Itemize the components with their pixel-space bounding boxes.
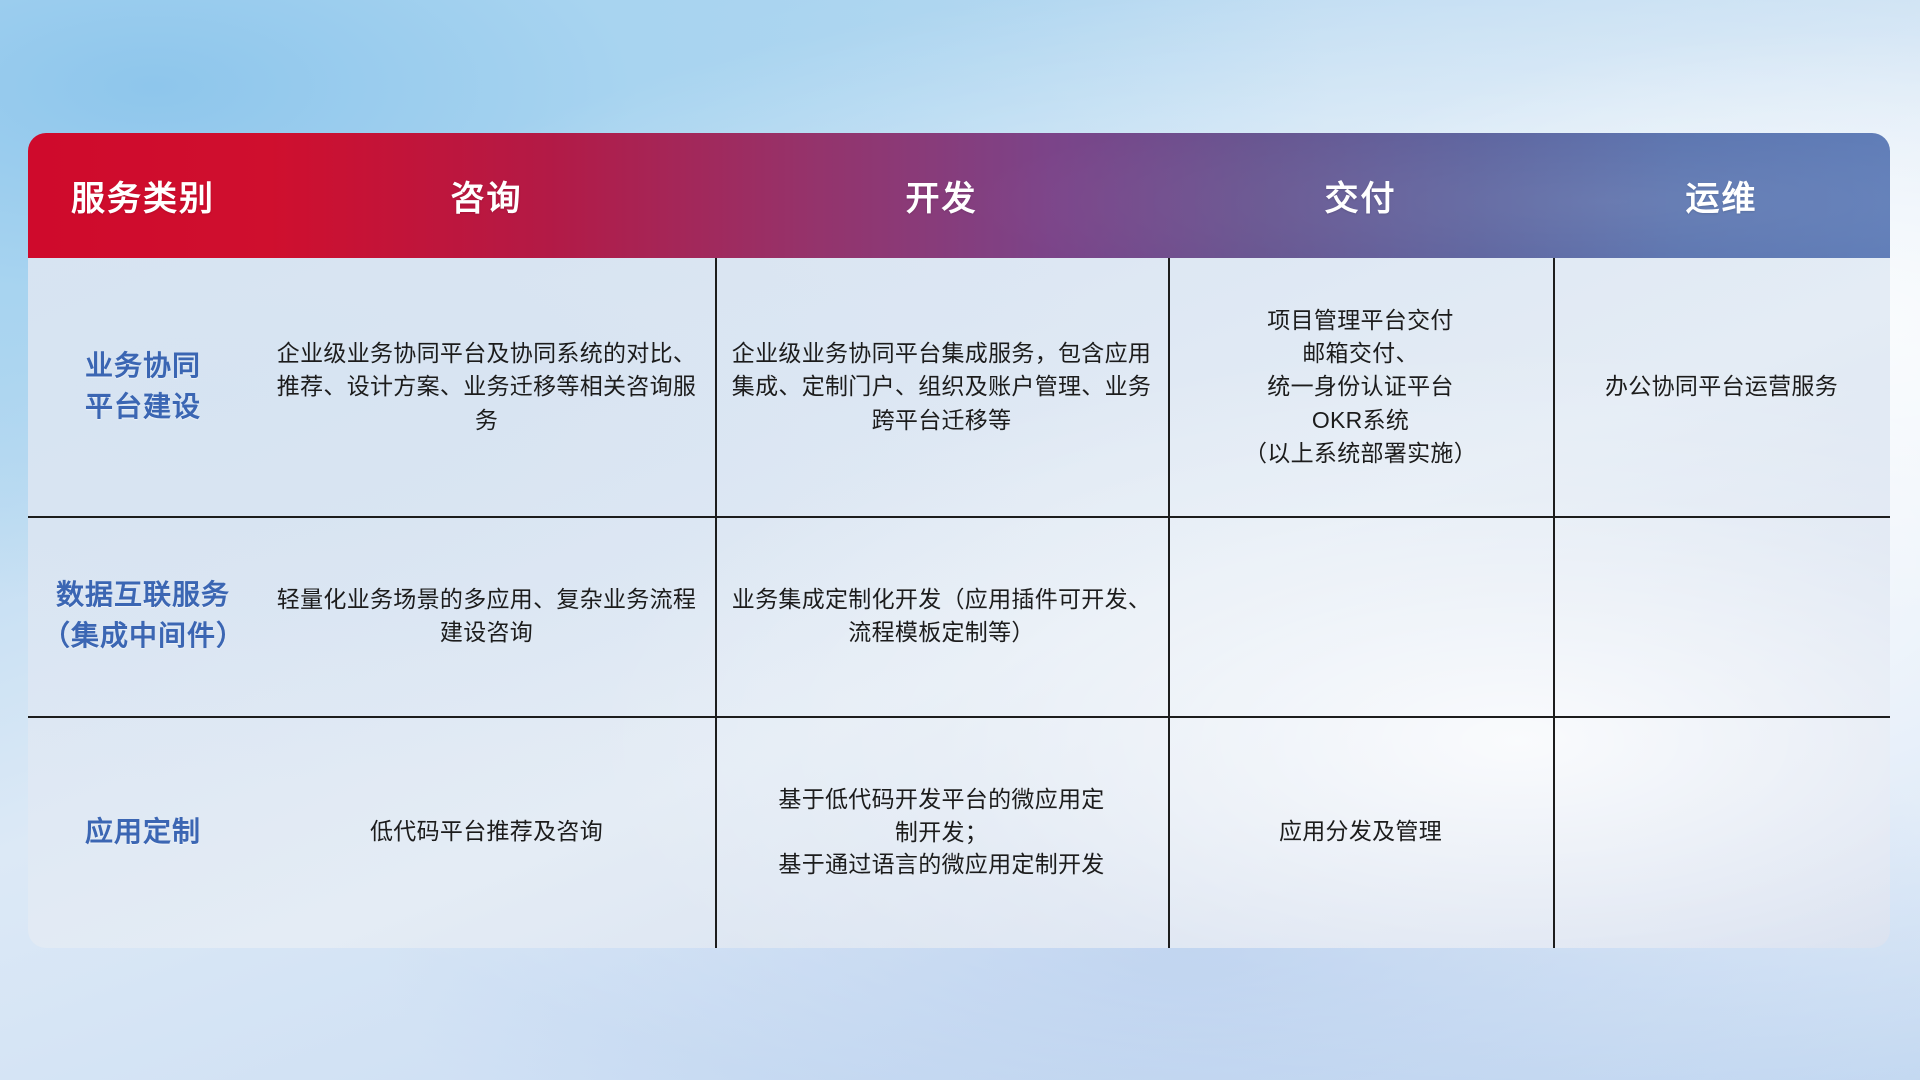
column-divider-3 xyxy=(1553,258,1555,948)
row-divider-1 xyxy=(28,516,1890,518)
column-header-category: 服务类别 xyxy=(28,171,258,220)
row-category-label: 业务协同 平台建设 xyxy=(28,258,258,516)
table-header-row: 服务类别 咨询 开发 交付 运维 xyxy=(28,133,1890,258)
category-line: （集成中间件） xyxy=(42,616,244,657)
category-line: 业务协同 xyxy=(85,346,201,387)
cell-operations xyxy=(1553,716,1890,948)
category-line: 平台建设 xyxy=(85,387,201,428)
cell-operations xyxy=(1553,516,1890,716)
cell-consulting: 轻量化业务场景的多应用、复杂业务流程建设咨询 xyxy=(258,516,715,716)
table-body: 业务协同 平台建设 企业级业务协同平台及协同系统的对比、推荐、设计方案、业务迁移… xyxy=(28,258,1890,948)
cell-operations: 办公协同平台运营服务 xyxy=(1553,258,1890,516)
cell-development: 基于低代码开发平台的微应用定 制开发； 基于通过语言的微应用定制开发 xyxy=(715,716,1168,948)
column-header-delivery: 交付 xyxy=(1168,171,1553,220)
row-category-label: 数据互联服务 （集成中间件） xyxy=(28,516,258,716)
cell-delivery: 应用分发及管理 xyxy=(1168,716,1553,948)
column-header-consulting: 咨询 xyxy=(258,171,715,220)
column-divider-1 xyxy=(715,258,717,948)
cell-delivery xyxy=(1168,516,1553,716)
development-line: 制开发； xyxy=(778,816,1104,849)
row-category-label: 应用定制 xyxy=(28,716,258,948)
column-header-development: 开发 xyxy=(715,171,1168,220)
cell-development: 业务集成定制化开发（应用插件可开发、流程模板定制等） xyxy=(715,516,1168,716)
table-row: 数据互联服务 （集成中间件） 轻量化业务场景的多应用、复杂业务流程建设咨询 业务… xyxy=(28,516,1890,716)
delivery-line: 项目管理平台交付 xyxy=(1244,304,1477,337)
development-line: 基于通过语言的微应用定制开发 xyxy=(778,848,1104,881)
delivery-line: 邮箱交付、 xyxy=(1244,337,1477,370)
row-divider-2 xyxy=(28,716,1890,718)
delivery-line: （以上系统部署实施） xyxy=(1244,437,1477,470)
column-divider-2 xyxy=(1168,258,1170,948)
category-line: 应用定制 xyxy=(85,812,201,853)
cell-development: 企业级业务协同平台集成服务，包含应用集成、定制门户、组织及账户管理、业务跨平台迁… xyxy=(715,258,1168,516)
category-line: 数据互联服务 xyxy=(42,575,244,616)
cell-delivery: 项目管理平台交付 邮箱交付、 统一身份认证平台 OKR系统 （以上系统部署实施） xyxy=(1168,258,1553,516)
delivery-line: OKR系统 xyxy=(1244,404,1477,437)
cell-consulting: 低代码平台推荐及咨询 xyxy=(258,716,715,948)
development-line: 基于低代码开发平台的微应用定 xyxy=(778,783,1104,816)
table-row: 应用定制 低代码平台推荐及咨询 基于低代码开发平台的微应用定 制开发； 基于通过… xyxy=(28,716,1890,948)
table-row: 业务协同 平台建设 企业级业务协同平台及协同系统的对比、推荐、设计方案、业务迁移… xyxy=(28,258,1890,516)
cell-consulting: 企业级业务协同平台及协同系统的对比、推荐、设计方案、业务迁移等相关咨询服务 xyxy=(258,258,715,516)
service-matrix-table: 服务类别 咨询 开发 交付 运维 业务协同 平台建设 企业级业务协同平台及协同系… xyxy=(28,133,1890,948)
delivery-line: 统一身份认证平台 xyxy=(1244,370,1477,403)
column-header-operations: 运维 xyxy=(1553,171,1890,220)
